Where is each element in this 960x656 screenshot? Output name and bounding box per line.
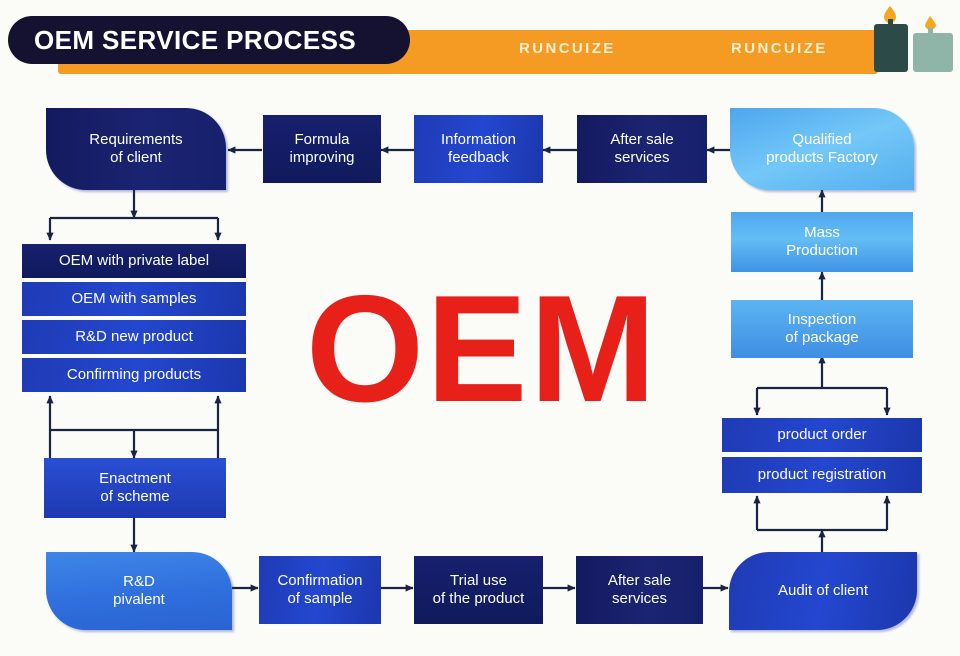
- node-line: Mass: [804, 224, 840, 242]
- node-line: of client: [110, 149, 162, 167]
- node-line: Audit of client: [778, 582, 868, 600]
- node-line: After sale: [608, 572, 671, 590]
- node-after-sale-services-top[interactable]: After sale services: [577, 115, 707, 183]
- node-line: Enactment: [99, 470, 171, 488]
- node-line: Trial use: [450, 572, 507, 590]
- node-line: products Factory: [766, 149, 878, 167]
- node-line: After sale: [610, 131, 673, 149]
- node-rd-pivalent[interactable]: R&D pivalent: [46, 552, 232, 630]
- node-confirming-products[interactable]: Confirming products: [22, 358, 246, 392]
- node-line: OEM with private label: [59, 252, 209, 270]
- node-oem-with-samples[interactable]: OEM with samples: [22, 282, 246, 316]
- node-line: product registration: [758, 466, 886, 484]
- node-line: Requirements: [89, 131, 182, 149]
- node-line: of the product: [433, 590, 525, 608]
- brand-label-left: RUNCUIZE: [519, 40, 616, 57]
- node-line: Confirming products: [67, 366, 201, 384]
- node-inspection-of-package[interactable]: Inspection of package: [731, 300, 913, 358]
- candles-icon-group: [868, 0, 960, 72]
- node-line: pivalent: [113, 591, 165, 609]
- node-information-feedback[interactable]: Information feedback: [414, 115, 543, 183]
- page-title-pill: OEM SERVICE PROCESS: [8, 16, 410, 64]
- flame-icon: [925, 16, 936, 30]
- node-line: Production: [786, 242, 858, 260]
- node-oem-with-private-label[interactable]: OEM with private label: [22, 244, 246, 278]
- candle-icon: [913, 16, 953, 72]
- node-product-order[interactable]: product order: [722, 418, 922, 452]
- node-after-sale-services-bottom[interactable]: After sale services: [576, 556, 703, 624]
- node-mass-production[interactable]: Mass Production: [731, 212, 913, 272]
- candle-body: [913, 33, 953, 72]
- node-line: R&D: [123, 573, 155, 591]
- node-line: services: [614, 149, 669, 167]
- node-requirements-of-client[interactable]: Requirements of client: [46, 108, 226, 190]
- node-audit-of-client[interactable]: Audit of client: [729, 552, 917, 630]
- node-line: feedback: [448, 149, 509, 167]
- candle-icon: [874, 6, 908, 72]
- node-line: Confirmation: [277, 572, 362, 590]
- node-trial-use-of-the-product[interactable]: Trial use of the product: [414, 556, 543, 624]
- oem-service-process-diagram: OEM SERVICE PROCESS RUNCUIZE RUNCUIZE: [0, 0, 960, 656]
- node-product-registration[interactable]: product registration: [722, 457, 922, 493]
- node-enactment-of-scheme[interactable]: Enactment of scheme: [44, 458, 226, 518]
- node-line: improving: [289, 149, 354, 167]
- node-line: services: [612, 590, 667, 608]
- node-confirmation-of-sample[interactable]: Confirmation of sample: [259, 556, 381, 624]
- node-line: Qualified: [792, 131, 851, 149]
- oem-wordmark: OEM: [292, 268, 672, 430]
- node-qualified-products-factory[interactable]: Qualified products Factory: [730, 108, 914, 190]
- node-line: of scheme: [100, 488, 169, 506]
- node-line: Formula: [294, 131, 349, 149]
- node-rd-new-product[interactable]: R&D new product: [22, 320, 246, 354]
- node-line: Inspection: [788, 311, 856, 329]
- node-line: of sample: [287, 590, 352, 608]
- page-title: OEM SERVICE PROCESS: [34, 25, 356, 56]
- node-line: of package: [785, 329, 858, 347]
- node-line: Information: [441, 131, 516, 149]
- node-line: R&D new product: [75, 328, 193, 346]
- candle-body: [874, 24, 908, 72]
- node-line: product order: [777, 426, 866, 444]
- node-line: OEM with samples: [71, 290, 196, 308]
- node-formula-improving[interactable]: Formula improving: [263, 115, 381, 183]
- brand-label-right: RUNCUIZE: [731, 40, 828, 57]
